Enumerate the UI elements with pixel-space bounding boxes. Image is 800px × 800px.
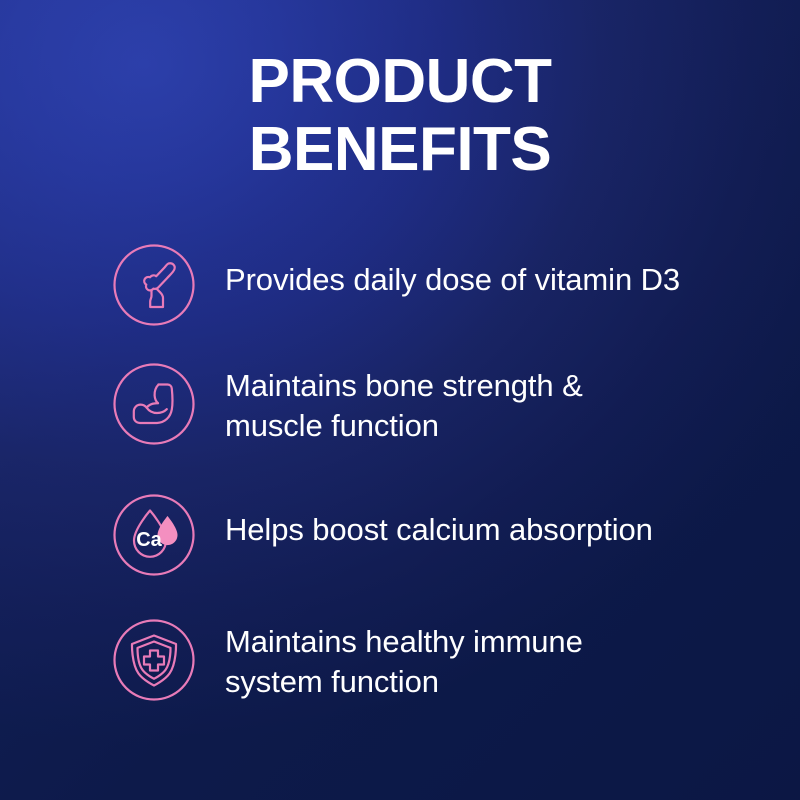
benefit-text-2-line-2: muscle function [225, 406, 583, 446]
benefit-item-2: Maintains bone strength & muscle functio… [112, 362, 752, 446]
benefit-item-4: Maintains healthy immune system function [112, 618, 752, 702]
benefit-text-4: Maintains healthy immune system function [225, 618, 583, 702]
benefit-text-4-line-1: Maintains healthy immune [225, 622, 583, 662]
benefit-text-3-line-1: Helps boost calcium absorption [225, 510, 653, 550]
shield-cross-icon [112, 618, 196, 702]
benefit-item-3: Ca Helps boost calcium absorption [112, 493, 752, 577]
benefit-text-4-line-2: system function [225, 662, 583, 702]
knee-joint-icon [112, 243, 196, 327]
benefit-text-1-line-1: Provides daily dose of vitamin D3 [225, 260, 680, 300]
benefit-text-2-line-1: Maintains bone strength & [225, 366, 583, 406]
benefit-text-1: Provides daily dose of vitamin D3 [225, 243, 680, 300]
product-benefits-card: PRODUCT BENEFITS Provides daily dose of … [0, 0, 800, 800]
benefit-item-1: Provides daily dose of vitamin D3 [112, 243, 752, 327]
page-title-line-1: PRODUCT [0, 48, 800, 116]
benefit-text-2: Maintains bone strength & muscle functio… [225, 362, 583, 446]
page-title-line-2: BENEFITS [0, 116, 800, 184]
page-title: PRODUCT BENEFITS [0, 48, 800, 184]
calcium-droplet-icon: Ca [112, 493, 196, 577]
calcium-symbol-label: Ca [136, 529, 162, 551]
benefit-text-3: Helps boost calcium absorption [225, 493, 653, 550]
flexed-bicep-icon [112, 362, 196, 446]
